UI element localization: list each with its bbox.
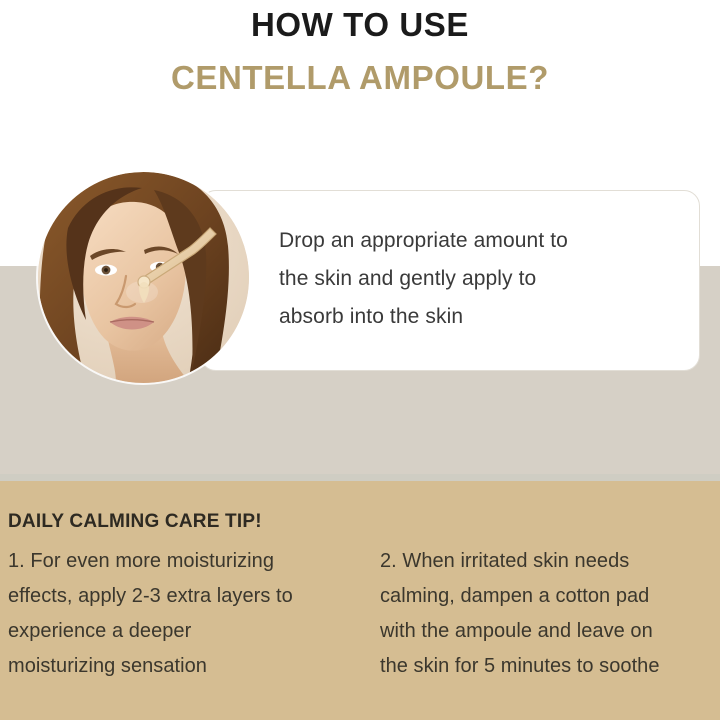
tip-line: the skin for 5 minutes to soothe [380, 649, 720, 684]
how-to-use-poster: HOW TO USE CENTELLA AMPOULE? Drop an app… [0, 0, 720, 720]
tip-line: 1. For even more moisturizing [8, 544, 370, 579]
daily-tip-column-2: 2. When irritated skin needs calming, da… [370, 544, 720, 684]
page-title: HOW TO USE CENTELLA AMPOULE? [0, 0, 720, 94]
tip-line: experience a deeper [8, 614, 370, 649]
instruction-line: absorb into the skin [279, 298, 679, 336]
background-band-divider [0, 474, 720, 481]
instruction-line: Drop an appropriate amount to [279, 222, 679, 260]
instruction-card: Drop an appropriate amount to the skin a… [200, 190, 700, 371]
instruction-card-text: Drop an appropriate amount to the skin a… [279, 222, 679, 336]
daily-tip-column-1: 1. For even more moisturizing effects, a… [0, 544, 370, 684]
tip-line: calming, dampen a cotton pad [380, 579, 720, 614]
instruction-line: the skin and gently apply to [279, 260, 679, 298]
eye-left-pupil [104, 268, 108, 272]
page-title-line-1: HOW TO USE [0, 0, 720, 41]
model-photo-illustration [38, 172, 249, 383]
daily-tip-heading: DAILY CALMING CARE TIP! [8, 511, 262, 533]
page-title-line-2: CENTELLA AMPOULE? [0, 41, 720, 94]
daily-tip-columns: 1. For even more moisturizing effects, a… [0, 544, 720, 684]
model-photo-circle [38, 172, 249, 383]
tip-line: effects, apply 2-3 extra layers to [8, 579, 370, 614]
tip-line: 2. When irritated skin needs [380, 544, 720, 579]
tip-line: with the ampoule and leave on [380, 614, 720, 649]
tip-line: moisturizing sensation [8, 649, 370, 684]
daily-tip-section: DAILY CALMING CARE TIP! 1. For even more… [0, 481, 720, 720]
